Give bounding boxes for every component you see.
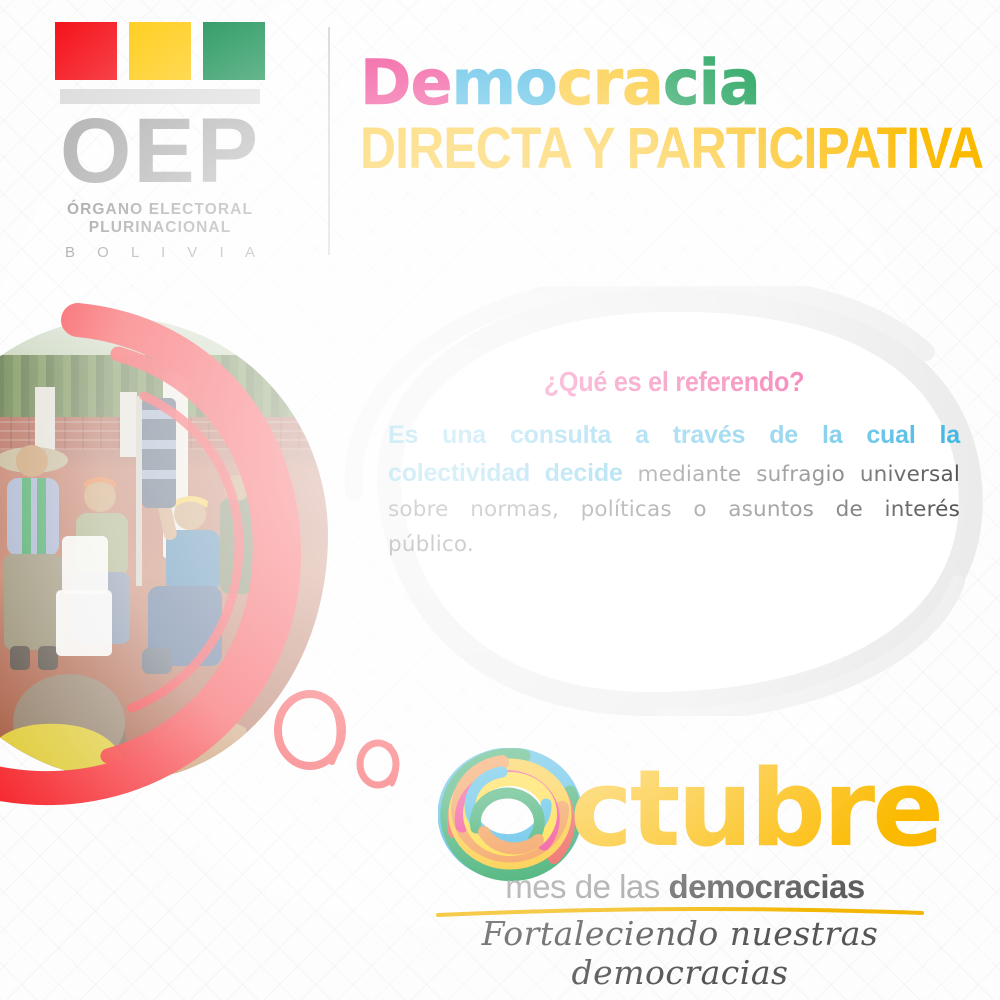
title-part-cia: cia [663, 46, 760, 119]
octubre-swirl-icon [438, 748, 588, 883]
oep-country-label: B O L I V I A [0, 244, 320, 261]
flag-square-green-icon [203, 22, 265, 80]
flag-square-yellow-icon [129, 22, 191, 80]
oep-institution: ÓRGANO ELECTORAL PLURINACIONAL [0, 201, 320, 237]
title-part-mo: mo [452, 46, 557, 119]
oep-logo: OEP ÓRGANO ELECTORAL PLURINACIONAL B O L… [0, 22, 320, 261]
header-divider [328, 27, 330, 255]
octubre-wordmark: ctubre [570, 756, 941, 862]
bolivia-flag-squares [0, 22, 320, 80]
answer-paragraph: Es una consulta a través de la cual la c… [388, 416, 960, 562]
octubre-tagline: Fortaleciendo nuestras democracias [430, 914, 930, 992]
octubre-subtitle-light: mes de las [505, 868, 668, 905]
poster-title: Democracia DIRECTA Y PARTICIPATIVA [360, 52, 980, 178]
bubble-content: ¿Qué es el referendo? Es una consulta a … [388, 366, 960, 562]
oep-acronym: OEP [0, 108, 320, 195]
title-part-de: De [360, 46, 452, 119]
question-title: ¿Qué es el referendo? [417, 366, 932, 398]
octubre-subtitle: mes de las democracias [440, 868, 930, 906]
octubre-logo: ctubre mes de las democracias Fortalecie… [430, 748, 930, 958]
octubre-subtitle-bold: democracias [668, 868, 864, 905]
title-democracia: Democracia [360, 52, 980, 114]
title-part-cra: cra [557, 46, 663, 119]
title-subtitle: DIRECTA Y PARTICIPATIVA [360, 120, 893, 178]
poster-canvas: OEP ÓRGANO ELECTORAL PLURINACIONAL B O L… [0, 0, 1000, 1000]
flag-square-red-icon [55, 22, 117, 80]
